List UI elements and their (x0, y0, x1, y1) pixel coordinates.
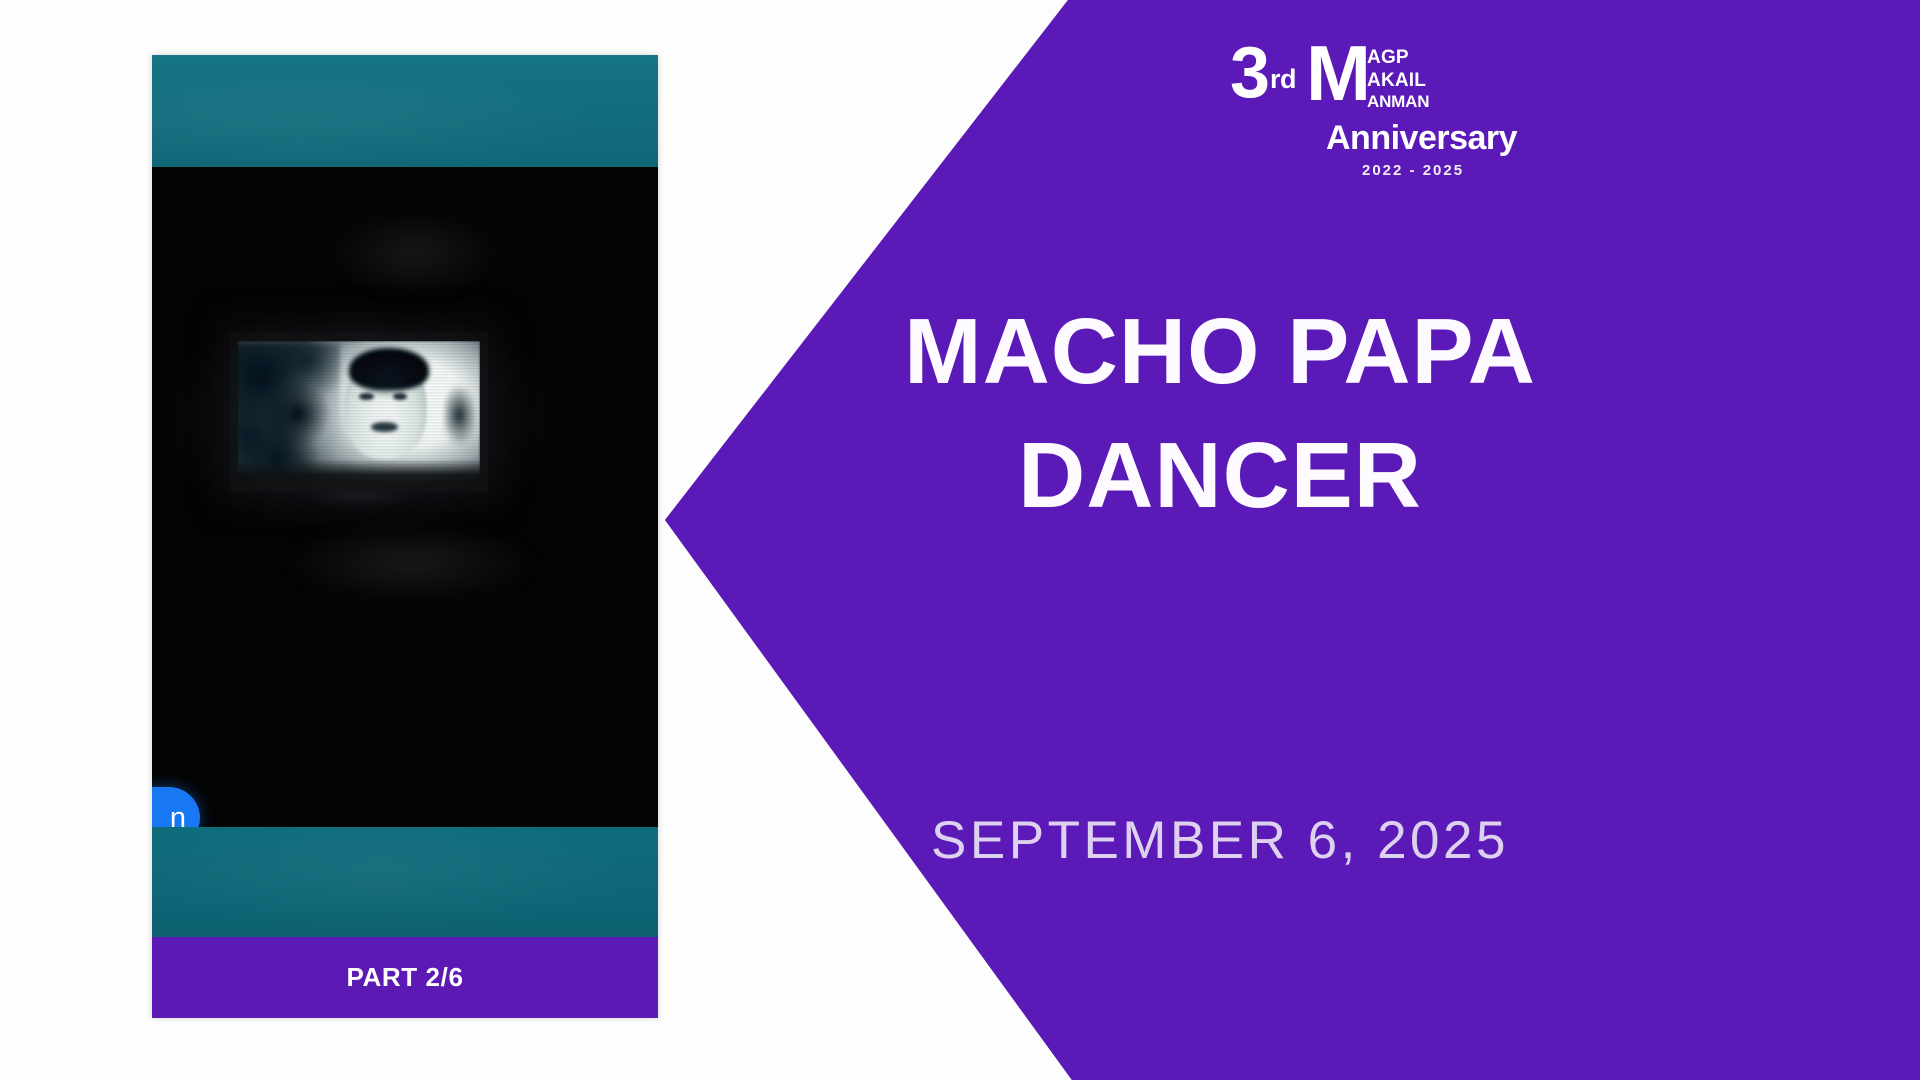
tv-screen (238, 341, 480, 481)
anniversary-logo-top-row: 3 rd M AGP AKAIL ANMAN (1230, 38, 1429, 124)
join-button-label: n (170, 804, 186, 828)
card-top-band (152, 55, 658, 167)
ambient-highlight-top (324, 207, 506, 299)
anniversary-ordinal: rd (1268, 38, 1296, 93)
anniversary-subtitle: Anniversary (1326, 121, 1517, 155)
brand-word-1: AGP (1367, 46, 1429, 69)
brand-monogram-letter: M (1306, 38, 1367, 106)
scanline-overlay (238, 341, 480, 481)
brand-word-3: ANMAN (1367, 92, 1429, 113)
poster-canvas: 3 rd M AGP AKAIL ANMAN Anniversary 2022 … (0, 0, 1920, 1080)
anniversary-number: 3 (1230, 38, 1268, 109)
card-footer: PART 2/6 (152, 937, 658, 1018)
part-indicator-label: PART 2/6 (346, 962, 463, 993)
ambient-highlight-bottom (284, 523, 537, 602)
event-date: SEPTEMBER 6, 2025 (700, 810, 1740, 871)
poster-title-line-2: DANCER (700, 414, 1740, 538)
brand-words: AGP AKAIL ANMAN (1367, 38, 1429, 113)
poster-title: MACHO PAPA DANCER (700, 290, 1740, 537)
anniversary-logo: 3 rd M AGP AKAIL ANMAN Anniversary 2022 … (1230, 38, 1530, 188)
video-frame[interactable]: n (152, 167, 658, 827)
poster-title-line-1: MACHO PAPA (700, 290, 1740, 414)
anniversary-years: 2022 - 2025 (1362, 162, 1464, 179)
join-button[interactable]: n (152, 787, 200, 827)
brand-monogram-group: M AGP AKAIL ANMAN (1296, 38, 1429, 113)
diamond-content: 3 rd M AGP AKAIL ANMAN Anniversary 2022 … (700, 0, 1920, 1080)
brand-word-2: AKAIL (1367, 69, 1429, 92)
video-card[interactable]: n PART 2/6 (152, 55, 658, 1018)
television (230, 332, 488, 492)
card-bottom-band (152, 827, 658, 937)
tv-stand (307, 492, 410, 506)
